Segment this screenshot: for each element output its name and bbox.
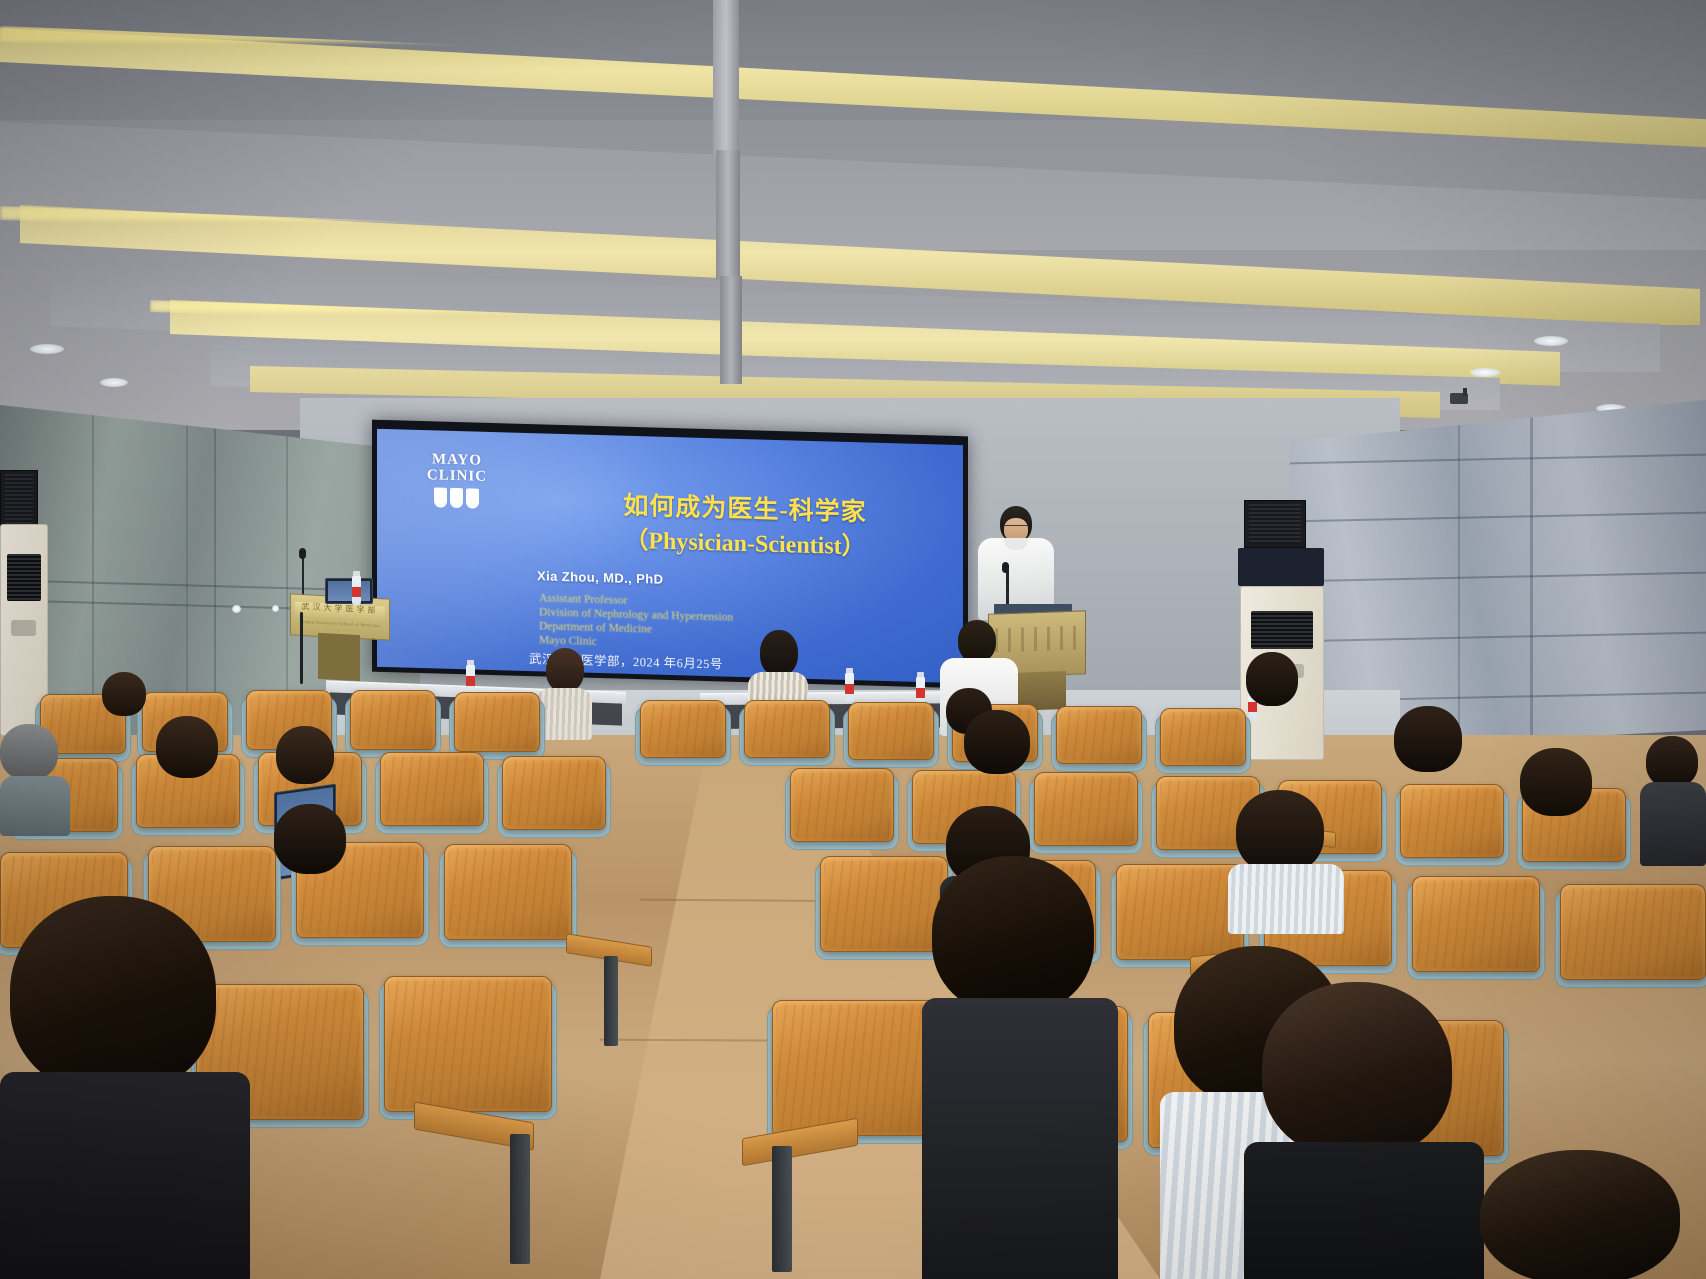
lectern-base-left xyxy=(318,633,360,681)
auditorium-seat[interactable] xyxy=(502,756,606,830)
seat-leg xyxy=(604,956,618,1046)
audience-torso xyxy=(1640,782,1706,866)
podium-microphone-icon xyxy=(1002,562,1009,573)
confidence-monitor-left xyxy=(325,578,373,604)
seat-leg xyxy=(510,1134,530,1264)
loudspeaker-left xyxy=(0,470,38,528)
slide-title-chinese: 如何成为医生-科学家 xyxy=(545,484,945,531)
audience-head-gray xyxy=(0,724,58,780)
microphone-icon-left xyxy=(299,548,306,559)
mayo-clinic-logo: MAYO CLINIC xyxy=(417,452,497,511)
audience-member-foreground xyxy=(922,856,1118,1279)
audience-member xyxy=(270,804,366,892)
audience-head xyxy=(760,630,798,676)
audience-head xyxy=(964,710,1030,774)
audience-member xyxy=(0,724,70,812)
auditorium-seat[interactable] xyxy=(454,692,540,752)
audience-head xyxy=(958,620,996,662)
lecture-hall-photo: MAYO CLINIC 如何成为医生-科学家 （Physician-Scient… xyxy=(0,0,1706,1279)
auditorium-seat[interactable] xyxy=(744,700,830,758)
audience-member xyxy=(1640,736,1706,856)
audience-head xyxy=(156,716,218,778)
audience-head xyxy=(102,672,146,716)
audience-head xyxy=(1646,736,1698,788)
seat-leg xyxy=(772,1146,792,1272)
auditorium-seat[interactable] xyxy=(640,700,726,758)
lectern-title-en: Wuhan University School of Medicine xyxy=(291,618,389,628)
camera-mount xyxy=(1463,388,1467,396)
audience-head xyxy=(10,896,216,1094)
audience-torso xyxy=(922,998,1118,1279)
water-bottle xyxy=(352,575,361,605)
auditorium-seat[interactable] xyxy=(1412,876,1540,972)
auditorium-seat[interactable] xyxy=(1400,784,1504,858)
audience-member xyxy=(1516,748,1608,844)
water-bottle xyxy=(466,664,475,694)
audience-member xyxy=(96,672,154,722)
water-bottle xyxy=(845,672,854,702)
audience-member xyxy=(1240,652,1310,718)
affiliation-line-2: Division of Nephrology and Hypertension xyxy=(539,605,733,624)
audience-head xyxy=(1520,748,1592,816)
auditorium-seat[interactable] xyxy=(1056,706,1142,764)
audience-member-foreground xyxy=(1470,1150,1706,1279)
loudspeaker-right xyxy=(1244,500,1306,548)
presenter xyxy=(978,506,1054,616)
audience-head xyxy=(1480,1150,1680,1279)
slide-author: Xia Zhou, MD., PhD xyxy=(537,568,663,587)
audience-head xyxy=(1236,790,1324,874)
affiliation-line-1: Assistant Professor xyxy=(539,591,733,610)
audience-head xyxy=(1262,982,1452,1158)
audience-torso xyxy=(1244,1142,1484,1279)
auditorium-seat[interactable] xyxy=(1560,884,1706,980)
auditorium-seat[interactable] xyxy=(790,768,894,842)
auditorium-seat[interactable] xyxy=(772,1000,940,1136)
mayo-logo-line1: MAYO xyxy=(417,452,497,470)
auditorium-seat[interactable] xyxy=(380,752,484,826)
audience-head xyxy=(1394,706,1462,772)
mayo-logo-line2: CLINIC xyxy=(417,468,497,486)
audience-member-foreground xyxy=(1244,982,1484,1279)
audience-head xyxy=(276,726,334,784)
audience-torso xyxy=(1228,864,1344,934)
audience-member xyxy=(272,726,350,796)
audience-member xyxy=(1228,790,1344,920)
audience-head xyxy=(274,804,346,874)
auditorium-seat[interactable] xyxy=(848,702,934,760)
presenter-glasses-icon xyxy=(1004,525,1028,530)
mayo-shield-icon xyxy=(433,487,481,510)
audience-head xyxy=(1246,652,1298,706)
ceiling xyxy=(0,0,1706,430)
air-conditioner-right-top xyxy=(1238,548,1324,586)
audience-member xyxy=(960,710,1044,788)
auditorium-seat[interactable] xyxy=(350,690,436,750)
auditorium-seat[interactable] xyxy=(384,976,552,1112)
auditorium-seat[interactable] xyxy=(444,844,572,940)
mic-cable xyxy=(300,612,303,684)
projection-screen: MAYO CLINIC 如何成为医生-科学家 （Physician-Scient… xyxy=(377,429,963,683)
audience-member xyxy=(152,716,232,788)
audience-torso xyxy=(0,1072,250,1279)
audience-member-foreground xyxy=(0,896,250,1279)
audience-head xyxy=(932,856,1094,1014)
audience-member xyxy=(1390,706,1476,788)
slide-title-english: （Physician-Scientist） xyxy=(545,518,945,564)
auditorium-seat[interactable] xyxy=(1034,772,1138,846)
audience-torso xyxy=(0,776,70,836)
auditorium-seat[interactable] xyxy=(1160,708,1246,766)
audience-head xyxy=(546,648,584,692)
affiliation-line-3: Department of Medicine xyxy=(539,619,733,638)
slide-affiliation: Assistant Professor Division of Nephrolo… xyxy=(539,591,733,652)
